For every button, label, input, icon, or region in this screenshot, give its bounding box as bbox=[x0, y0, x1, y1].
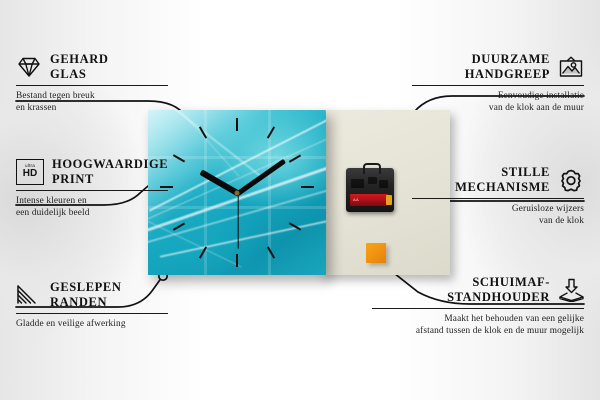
ultra-hd-icon-bottom: HD bbox=[23, 169, 37, 179]
feature-subtitle: Maakt het behouden van een gelijkeafstan… bbox=[372, 313, 584, 337]
quartz-movement: AA bbox=[346, 168, 394, 212]
feature-hoogwaardige-print: ultra HD HOOGWAARDIGEPRINT Intense kleur… bbox=[16, 157, 168, 219]
feature-stille-mechanisme: STILLEMECHANISME Geruisloze wijzersvan d… bbox=[412, 165, 584, 227]
feature-subtitle: Intense kleuren eneen duidelijk beeld bbox=[16, 195, 168, 219]
infographic-canvas: AA bbox=[0, 0, 600, 400]
spacer-press-icon bbox=[558, 278, 584, 302]
divider bbox=[16, 313, 168, 314]
feature-schuimafstandhouder: SCHUIMAF-STANDHOUDER Maakt het behouden … bbox=[372, 275, 584, 337]
feature-geslepen-randen: GESLEPENRANDEN Gladde en veilige afwerki… bbox=[16, 280, 168, 330]
ultra-hd-icon: ultra HD bbox=[16, 159, 44, 185]
movement-detail bbox=[368, 177, 377, 184]
feature-title: SCHUIMAF-STANDHOUDER bbox=[447, 275, 550, 305]
feature-subtitle: Geruisloze wijzersvan de klok bbox=[412, 203, 584, 227]
feature-title: HOOGWAARDIGEPRINT bbox=[52, 157, 168, 187]
foam-spacer-pad bbox=[366, 243, 386, 263]
second-hand bbox=[237, 192, 238, 249]
gear-icon bbox=[558, 168, 584, 192]
feather-streak bbox=[160, 216, 326, 258]
diamond-icon bbox=[16, 55, 42, 79]
divider bbox=[16, 190, 168, 191]
hanger-bracket bbox=[363, 163, 381, 174]
movement-detail bbox=[379, 180, 388, 188]
divider bbox=[372, 308, 584, 309]
feature-subtitle: Bestand tegen breuken krassen bbox=[16, 90, 168, 114]
glass-clock-face bbox=[148, 110, 326, 275]
feature-subtitle: Eenvoudige installatievan de klok aan de… bbox=[412, 90, 584, 114]
clock-tick bbox=[236, 254, 238, 267]
beveled-edge-icon bbox=[16, 283, 42, 307]
feature-title: GESLEPENRANDEN bbox=[50, 280, 122, 310]
clock-tick bbox=[236, 118, 238, 131]
movement-detail bbox=[351, 179, 364, 188]
feature-duurzame-handgreep: DUURZAMEHANDGREEP Eenvoudige installatie… bbox=[412, 52, 584, 114]
picture-frame-icon bbox=[558, 55, 584, 79]
aa-battery: AA bbox=[350, 194, 388, 206]
divider bbox=[16, 85, 168, 86]
feature-title: DUURZAMEHANDGREEP bbox=[465, 52, 550, 82]
feature-subtitle: Gladde en veilige afwerking bbox=[16, 318, 168, 330]
divider bbox=[412, 198, 584, 199]
feature-gehard-glas: GEHARDGLAS Bestand tegen breuken krassen bbox=[16, 52, 168, 114]
battery-positive-terminal bbox=[386, 195, 392, 205]
clock-tick bbox=[173, 222, 185, 230]
feature-title: GEHARDGLAS bbox=[50, 52, 108, 82]
divider bbox=[412, 85, 584, 86]
clock-tick bbox=[301, 186, 314, 188]
battery-label: AA bbox=[353, 197, 359, 202]
feature-title: STILLEMECHANISME bbox=[455, 165, 550, 195]
clock-center-hub bbox=[235, 190, 240, 195]
